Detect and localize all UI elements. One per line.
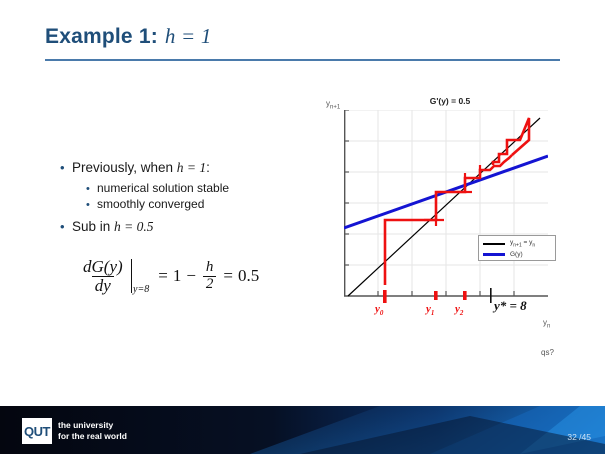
bullet-item-sub-in: • Sub in h = 0.5 [60, 219, 330, 235]
marker-y2 [463, 291, 467, 300]
page-title: Example 1:h = 1 [45, 24, 212, 49]
chart-x-axis-label: yn [543, 318, 550, 330]
bullet-previously-label: Previously, when [72, 160, 177, 175]
bullet-item-previously: • Previously, when h = 1: [60, 160, 330, 176]
equals-sign-2: = [223, 266, 233, 286]
chart-caption: qs? [541, 348, 554, 357]
qut-logo: QUT the university for the real world [22, 418, 127, 444]
page-title-text: Example 1: [45, 25, 158, 48]
legend-entry-g: G(y) [483, 250, 551, 259]
annotation-y2: y2 [455, 303, 463, 317]
bullet-subitem-converged-label: smoothly converged [97, 197, 204, 211]
derivative-denominator: dy [92, 276, 114, 295]
page-number: 32 /45 [567, 432, 591, 442]
marker-y0 [383, 290, 387, 303]
bullet-previously-math: h = 1 [177, 160, 206, 175]
marker-ystar [490, 288, 492, 303]
chart-gridlines [344, 110, 548, 296]
bullet-dot-icon: • [60, 161, 72, 174]
minus-sign: − [186, 266, 196, 286]
chart-legend: yn+1 = yn G(y) [478, 235, 556, 261]
qut-logo-text: QUT [24, 424, 50, 439]
marker-y1 [434, 291, 438, 300]
legend-label-identity: yn+1 = yn [510, 239, 535, 248]
qut-tagline-line1: the university [58, 420, 127, 431]
qut-tagline-line2: for the real world [58, 431, 127, 442]
bullet-previously-colon: : [206, 160, 210, 175]
bullet-subitem-stable: • numerical solution stable [86, 181, 330, 195]
chart-title: G'(y) = 0.5 [390, 96, 510, 106]
title-divider [45, 59, 560, 61]
chart-y-axis-label: yn+1 [326, 99, 340, 111]
identity-line-series [348, 118, 540, 296]
derivative-numerator: dG(y) [80, 258, 126, 276]
two-denominator: 2 [203, 276, 217, 293]
derivative-fraction: dG(y) dy [80, 258, 126, 295]
bullet-sub-in-label: Sub in [72, 219, 114, 234]
legend-swatch-g-icon [483, 253, 505, 256]
bullet-sub-in-math: h = 0.5 [114, 219, 154, 234]
legend-swatch-identity-icon [483, 243, 505, 245]
cobweb-chart: G'(y) = 0.5 yn+1 yn [326, 96, 566, 346]
bullet-subitem-converged: • smoothly converged [86, 197, 330, 211]
bullet-sublist: • numerical solution stable • smoothly c… [86, 181, 330, 211]
legend-label-g: G(y) [510, 251, 523, 258]
vertical-bar-icon [131, 259, 132, 293]
legend-entry-identity: yn+1 = yn [483, 239, 551, 248]
h-over-two-fraction: h 2 [203, 260, 217, 293]
bullet-dot-icon: • [86, 200, 97, 211]
h-numerator: h [203, 260, 217, 276]
bullet-dot-icon: • [86, 184, 97, 195]
equation-result: 0.5 [238, 266, 259, 286]
slide-footer: QUT the university for the real world 32… [0, 406, 605, 454]
annotation-y1: y1 [426, 303, 434, 317]
annotation-y-star: y* = 8 [494, 298, 527, 314]
derivative-equation: dG(y) dy y=8 = 1 − h 2 = 0.5 [78, 258, 259, 295]
evaluation-bar: y=8 [131, 259, 150, 293]
evaluation-subscript: y=8 [133, 284, 149, 295]
bullet-list: • Previously, when h = 1: • numerical so… [60, 160, 330, 240]
equation-one: 1 [173, 266, 182, 286]
qut-logo-box: QUT [22, 418, 52, 444]
bullet-subitem-stable-label: numerical solution stable [97, 181, 229, 195]
equals-sign-1: = [158, 266, 168, 286]
annotation-y0: y0 [375, 303, 383, 317]
page-title-math: h = 1 [165, 24, 212, 48]
qut-tagline: the university for the real world [58, 420, 127, 441]
chart-plot-area: y0 y1 y2 y* = 8 [344, 110, 548, 304]
bullet-dot-icon: • [60, 220, 72, 233]
